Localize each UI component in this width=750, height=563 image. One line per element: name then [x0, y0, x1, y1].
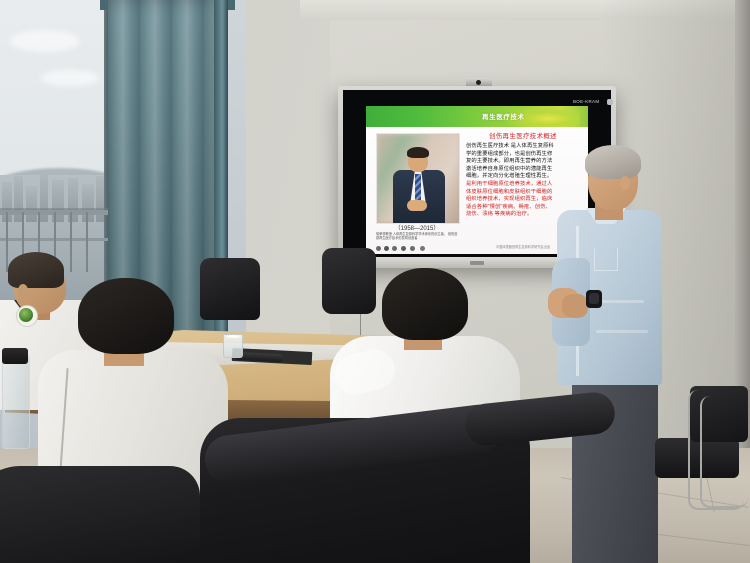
keyboard-icon — [410, 246, 415, 251]
slide-title: 创伤再生医疗技术概述 — [466, 131, 580, 140]
display-logo — [470, 261, 484, 265]
office-chair-back-right[interactable] — [322, 248, 376, 314]
railing-post — [70, 212, 72, 272]
slide-portrait-photo — [376, 133, 460, 224]
cloud — [40, 70, 100, 86]
slide-line: 组织培养技术，实现组织再生，临床 — [466, 196, 580, 204]
record-icon — [376, 246, 381, 251]
attendee-right-hair — [382, 268, 468, 340]
cursor-icon — [401, 246, 406, 251]
cloud — [10, 30, 80, 52]
slide-line: 创伤再生医疗技术 是人体再生复原科 — [466, 143, 580, 151]
slide-icon-row — [376, 246, 460, 252]
shirt-fold — [600, 300, 644, 303]
shirt-fold — [596, 330, 648, 333]
badge-emblem-icon — [19, 308, 33, 322]
display-power-indicator-icon — [607, 99, 613, 105]
water-glass[interactable] — [223, 334, 243, 358]
slide-line: 细胞，并定向分化增殖生理性再生。 — [466, 173, 580, 181]
tumbler-lid[interactable] — [2, 348, 28, 364]
attendee-center-hair — [78, 278, 174, 354]
tumbler-bottle[interactable] — [2, 355, 30, 449]
slide-banner-text: 再生医疗技术 — [482, 111, 525, 121]
attendee-left-hair — [8, 252, 64, 288]
slide-text-column: 创伤再生医疗技术概述 创伤再生医疗技术 是人体再生复原科 学的重要组成部分，也是… — [466, 131, 580, 219]
portrait-hands — [407, 200, 427, 211]
wristwatch-face — [589, 293, 599, 304]
presenter-hand-right — [562, 294, 588, 318]
presenter-ear — [620, 176, 630, 190]
attendee-left-ear — [18, 284, 28, 297]
building — [82, 184, 94, 222]
display-brand-text: BOE-KRAM — [573, 99, 599, 104]
portrait-caption: （1958—2015） — [376, 223, 458, 232]
portrait-hair — [407, 147, 429, 158]
gear-icon — [384, 246, 389, 251]
chair-chrome-frame — [700, 396, 748, 508]
railing-post — [86, 212, 88, 272]
slide-line: 是利用干细胞原位培养技术，通过人 — [466, 181, 580, 189]
railing-post — [6, 212, 8, 272]
front-left-armchair[interactable] — [0, 466, 200, 563]
slide-line: 复的主要技术。即用再生营养的方法 — [466, 158, 580, 166]
pen-icon — [392, 246, 397, 251]
building — [26, 186, 37, 222]
office-chair-back-left[interactable] — [200, 258, 260, 320]
meeting-room-photo: BOE-KRAM 再生医疗技术 （1958—2015） 徐荣祥教授 人体再生复原… — [0, 0, 750, 563]
portrait-note: 徐荣祥教授 人体再生复原科学学术体系的创立者， 烧伤皮肤再生医疗技术的发明创造者 — [376, 232, 460, 241]
camera-lens-icon — [476, 80, 481, 85]
presentation-slide: 再生医疗技术 （1958—2015） 徐荣祥教授 人体再生复原科学学术体系的创立… — [366, 106, 588, 254]
presenter-shirt-pocket — [594, 248, 618, 271]
more-icon — [420, 246, 425, 251]
presenter-hair — [585, 145, 641, 179]
